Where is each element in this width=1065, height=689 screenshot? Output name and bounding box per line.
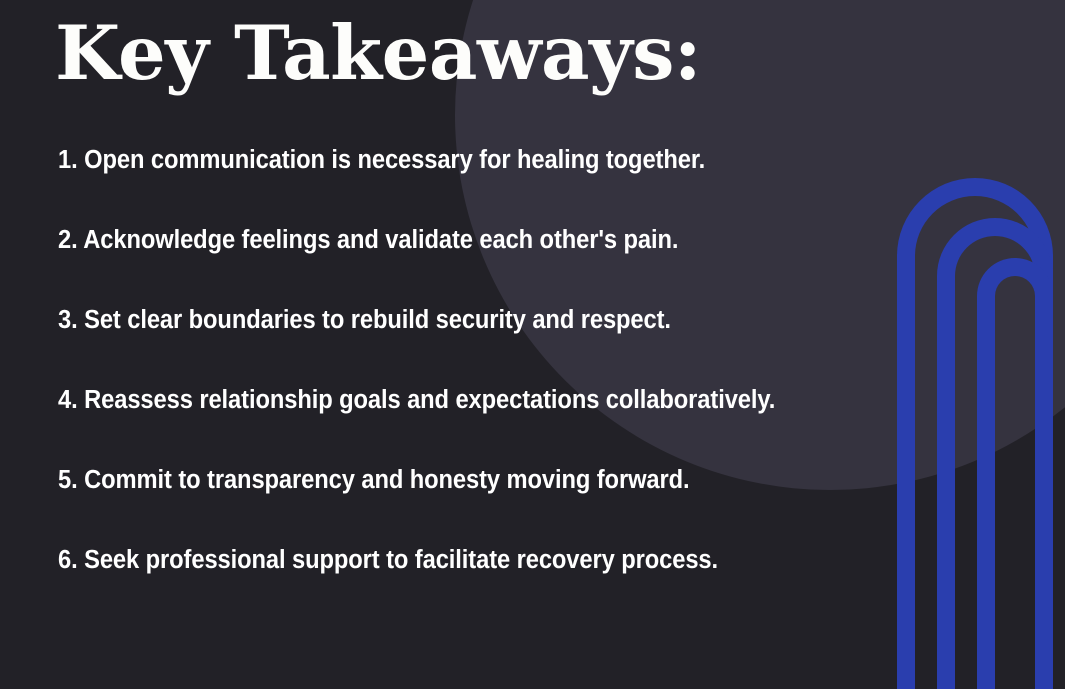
page-title: Key Takeaways: xyxy=(55,16,701,91)
list-item: 4. Reassess relationship goals and expec… xyxy=(58,388,858,468)
list-item-index: 1. xyxy=(58,146,78,174)
list-item-text: Commit to transparency and honesty movin… xyxy=(84,466,689,494)
list-item-text: Set clear boundaries to rebuild security… xyxy=(84,306,671,334)
slide-content: Key Takeaways: 1. Open communication is … xyxy=(0,0,1065,689)
list-item: 2. Acknowledge feelings and validate eac… xyxy=(58,228,858,308)
list-item: 6. Seek professional support to facilita… xyxy=(58,548,858,628)
takeaway-list: 1. Open communication is necessary for h… xyxy=(58,148,918,628)
list-item: 1. Open communication is necessary for h… xyxy=(58,148,858,228)
list-item-text: Acknowledge feelings and validate each o… xyxy=(83,226,678,254)
list-item-text: Open communication is necessary for heal… xyxy=(84,146,705,174)
list-item: 3. Set clear boundaries to rebuild secur… xyxy=(58,308,858,388)
list-item-index: 4. xyxy=(58,386,78,414)
list-item-index: 3. xyxy=(58,306,78,334)
list-item-text: Seek professional support to facilitate … xyxy=(84,546,718,574)
slide-canvas: Key Takeaways: 1. Open communication is … xyxy=(0,0,1065,689)
list-item-index: 2. xyxy=(58,226,78,254)
list-item-text: Reassess relationship goals and expectat… xyxy=(84,386,775,414)
list-item-index: 6. xyxy=(58,546,78,574)
list-item: 5. Commit to transparency and honesty mo… xyxy=(58,468,858,548)
list-item-index: 5. xyxy=(58,466,78,494)
